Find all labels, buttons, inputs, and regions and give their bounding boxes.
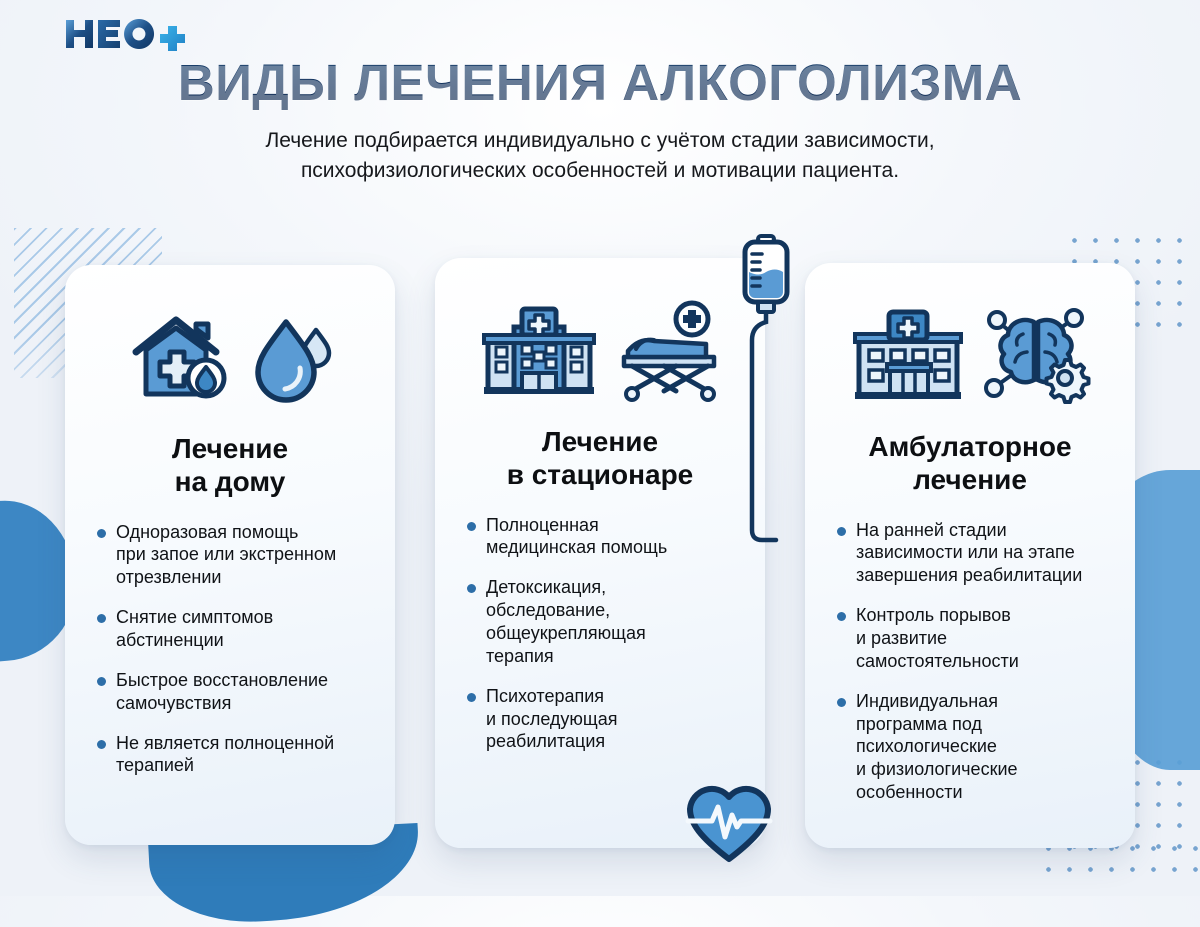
hospital-building-icon <box>478 299 600 403</box>
card-title: Лечение на дому <box>172 433 288 499</box>
list-item: Одноразовая помощь при запое или экстрен… <box>95 521 373 590</box>
card-title: Лечение в стационаре <box>507 426 694 492</box>
list-item: Психотерапия и последующая реабилитация <box>465 685 743 754</box>
card-home-treatment[interactable]: Лечение на дому Одноразовая помощь при з… <box>65 265 395 845</box>
card-bullet-list: Одноразовая помощь при запое или экстрен… <box>87 521 373 795</box>
list-item: Не является полноценной терапией <box>95 732 373 778</box>
subtitle-line-1: Лечение подбирается индивидуально с учёт… <box>265 129 934 152</box>
list-item: Полноценная медицинская помощь <box>465 514 743 560</box>
house-medical-icon <box>124 306 236 410</box>
clinic-building-icon <box>847 304 969 408</box>
iv-drip-icon <box>735 228 795 558</box>
list-item: Индивидуальная программа под психологиче… <box>835 690 1113 804</box>
subtitle-line-2: психофизиологических особенностей и моти… <box>301 159 899 182</box>
card-outpatient-treatment[interactable]: Амбулаторное лечение На ранней стадии за… <box>805 263 1135 848</box>
card-bullet-list: Полноценная медицинская помощь Детоксика… <box>457 514 743 771</box>
list-item: Детоксикация, обследование, общеукрепляю… <box>465 576 743 667</box>
card-title: Амбулаторное лечение <box>868 431 1071 497</box>
card-icons <box>124 295 336 421</box>
list-item: Контроль порывов и развитие самостоятель… <box>835 604 1113 673</box>
brain-gear-icon <box>983 304 1093 408</box>
neo-plus-logo <box>64 14 194 54</box>
list-item: На ранней стадии зависимости или на этап… <box>835 519 1113 588</box>
treatment-cards: Лечение на дому Одноразовая помощь при з… <box>0 265 1200 848</box>
water-drop-icon <box>250 306 336 410</box>
heart-pulse-icon <box>684 781 774 865</box>
page-title: ВИДЫ ЛЕЧЕНИЯ АЛКОГОЛИЗМА <box>0 56 1200 110</box>
card-bullet-list: На ранней стадии зависимости или на этап… <box>827 519 1113 821</box>
hospital-stretcher-icon <box>614 299 722 403</box>
list-item: Быстрое восстановление самочувствия <box>95 669 373 715</box>
card-icons <box>478 288 722 414</box>
page-subtitle: Лечение подбирается индивидуально с учёт… <box>100 126 1100 186</box>
card-icons <box>847 293 1093 419</box>
page-header: ВИДЫ ЛЕЧЕНИЯ АЛКОГОЛИЗМА Лечение подбира… <box>0 0 1200 186</box>
list-item: Снятие симптомов абстиненции <box>95 606 373 652</box>
card-inpatient-treatment[interactable]: Лечение в стационаре Полноценная медицин… <box>435 258 765 848</box>
